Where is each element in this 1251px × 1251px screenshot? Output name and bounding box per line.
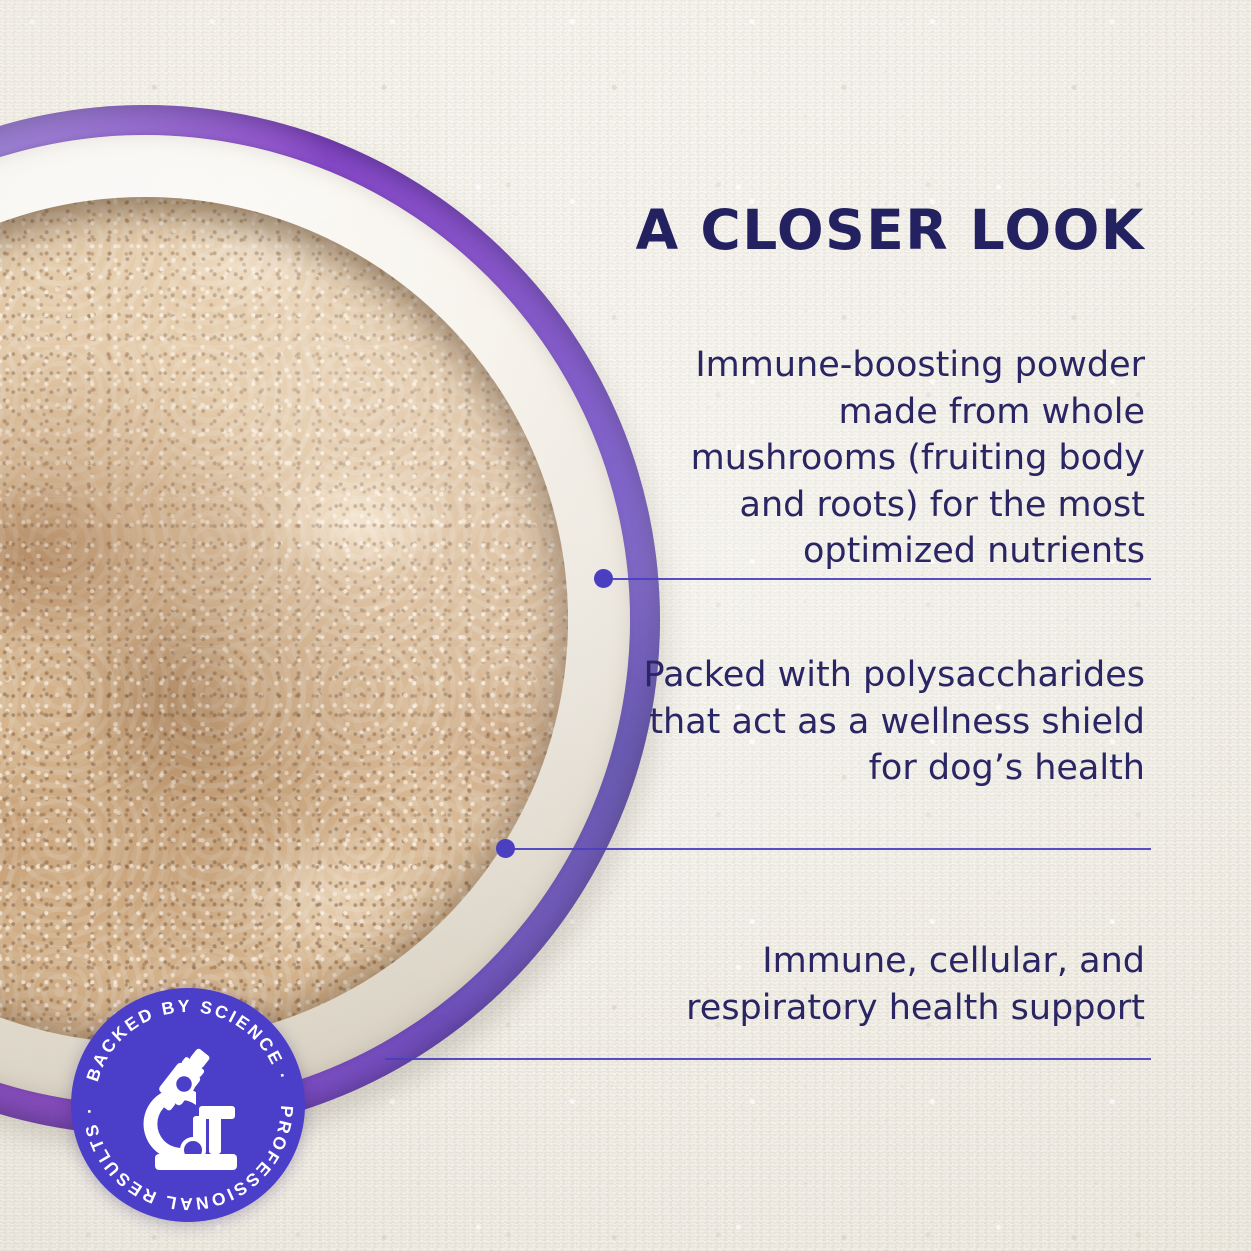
mushroom-powder (0, 197, 568, 1043)
content-column: A CLOSER LOOK Immune-boosting powder mad… (556, 0, 1251, 1251)
feature-divider-3 (385, 1058, 1151, 1060)
feature-divider-2 (505, 848, 1151, 850)
microscope-icon (144, 1044, 237, 1170)
feature-text-whole-mushrooms: Immune-boosting powder made from whole m… (640, 342, 1145, 575)
feature-text-polysaccharides: Packed with polysaccharides that act as … (640, 652, 1145, 792)
feature-divider-1 (603, 578, 1151, 580)
page-title: A CLOSER LOOK (636, 198, 1145, 262)
feature-callout-dot-1 (594, 569, 613, 588)
feature-callout-dot-2 (496, 839, 515, 858)
backed-by-science-badge: BACKED BY SCIENCE · PROFESSIONAL RESULTS… (71, 988, 305, 1222)
feature-text-health-support: Immune, cellular, and respiratory health… (640, 938, 1145, 1031)
product-infographic: A CLOSER LOOK Immune-boosting powder mad… (0, 0, 1251, 1251)
